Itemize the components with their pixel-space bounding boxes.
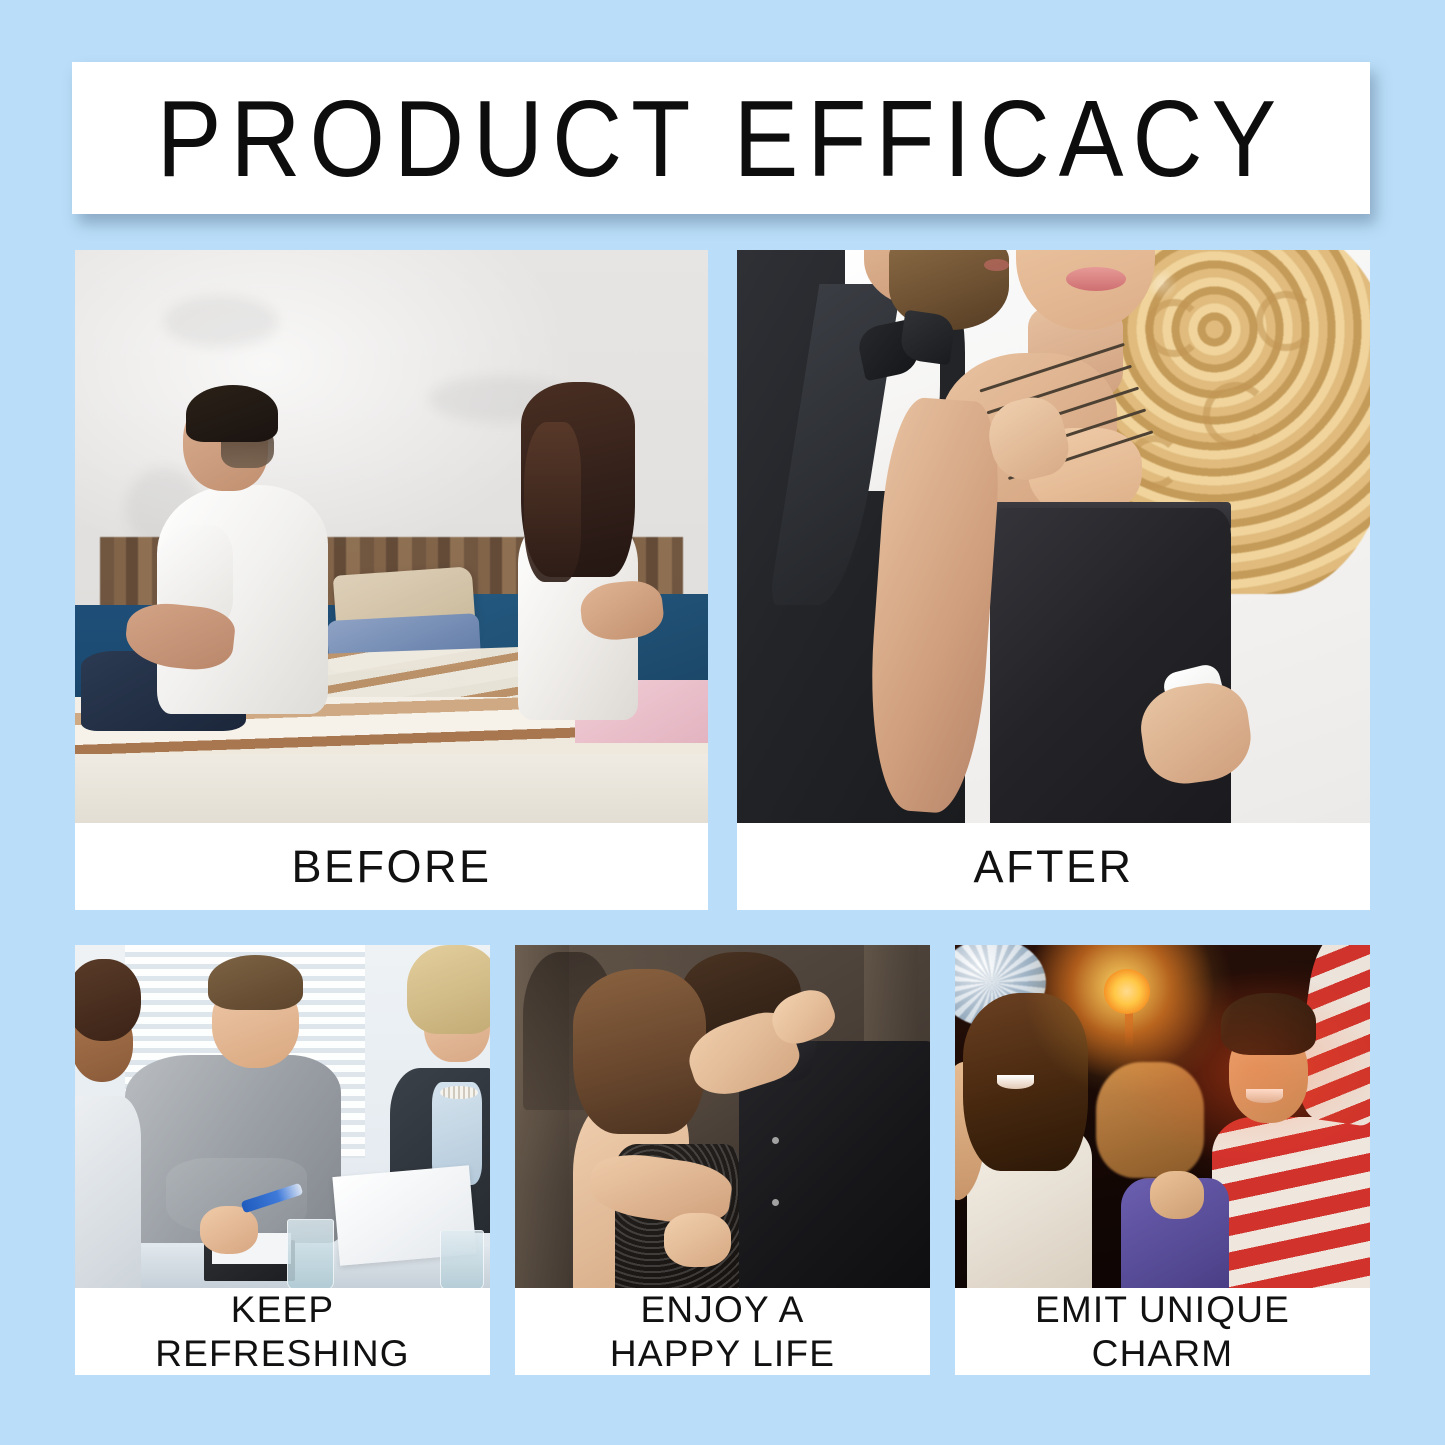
infographic-root: PRODUCT EFFICACY [0,0,1445,1445]
bedroom-scene [75,250,708,823]
romantic-couple-scene [515,945,930,1288]
man-hair [1221,993,1316,1055]
nightclub-party-scene [955,945,1370,1288]
woman-hair [573,969,706,1134]
after-caption-text: AFTER [973,840,1133,893]
caption-line-1: ENJOY A [640,1288,804,1332]
man-striped-shirt [1212,1117,1370,1289]
man-hand [200,1206,258,1254]
hair-curl [1145,299,1203,357]
after-caption: AFTER [737,823,1370,910]
man-hand-embrace [664,1213,730,1268]
woman-smile [997,1075,1034,1089]
after-photo [737,250,1370,823]
man-hair [186,385,278,442]
before-caption: BEFORE [75,823,708,910]
benefit-card-keep-refreshing: KEEP REFRESHING [75,945,490,1375]
senior-woman-hair [407,945,490,1034]
emit-unique-charm-caption: EMIT UNIQUE CHARM [955,1288,1370,1375]
colleague-woman-body [75,1096,141,1288]
before-card: BEFORE [75,250,708,910]
title-banner: PRODUCT EFFICACY [72,62,1370,214]
page-title: PRODUCT EFFICACY [157,84,1285,193]
keep-refreshing-caption: KEEP REFRESHING [75,1288,490,1375]
water-glass [440,1230,484,1288]
caption-line-2: HAPPY LIFE [610,1332,835,1376]
before-photo [75,250,708,823]
enjoy-happy-life-caption: ENJOY A HAPPY LIFE [515,1288,930,1375]
caption-line-2: CHARM [1092,1332,1234,1376]
stage-light [1104,969,1150,1014]
before-caption-text: BEFORE [291,840,491,893]
caption-line-2: REFRESHING [155,1332,410,1376]
water-glass [287,1219,335,1288]
caption-line-1: EMIT UNIQUE [1035,1288,1290,1332]
meeting-photo [75,945,490,1288]
after-card: AFTER [737,250,1370,910]
man-smile [1246,1089,1283,1103]
office-meeting-scene [75,945,490,1288]
middle-woman-hand [1150,1171,1204,1219]
middle-woman-hair [1096,1062,1204,1179]
romance-photo [515,945,930,1288]
woman-hair-strand [524,422,581,582]
hair-curl [1203,382,1269,448]
caption-line-1: KEEP [231,1288,335,1332]
hair-curl [1256,291,1316,351]
white-sheet [75,754,708,823]
benefit-card-emit-unique-charm: EMIT UNIQUE CHARM [955,945,1370,1375]
wall-texture-mark [164,296,278,348]
party-photo [955,945,1370,1288]
pearl-necklace [440,1086,477,1100]
colleague-woman-hair [75,959,141,1041]
man-hair [208,955,303,1010]
benefit-card-enjoy-happy-life: ENJOY A HAPPY LIFE [515,945,930,1375]
couple-studio-scene [737,250,1370,823]
